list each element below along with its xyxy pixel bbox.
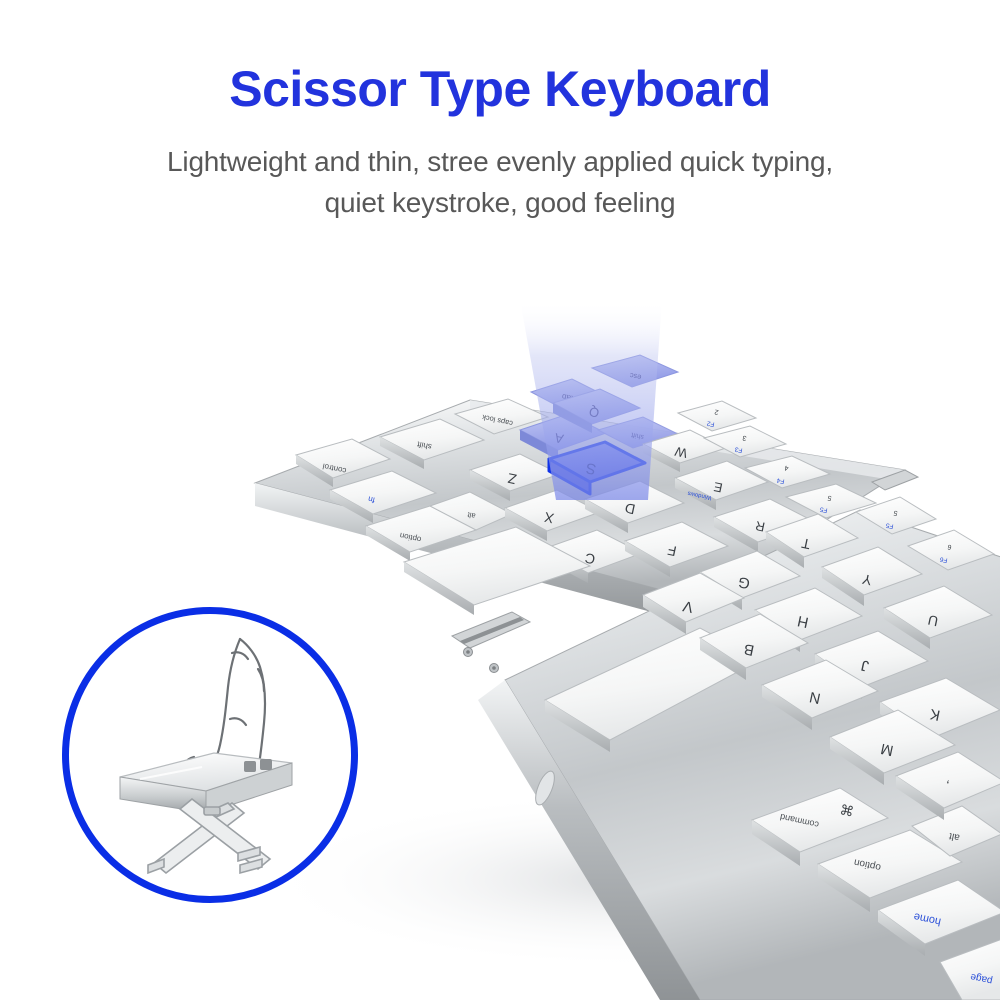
product-marketing-image: Scissor Type Keyboard Lightweight and th… bbox=[0, 0, 1000, 1000]
scissor-mechanism-illustration bbox=[62, 607, 358, 903]
scissor-mechanism-icon bbox=[148, 799, 270, 873]
key-2-F2[interactable]: 2 F2 bbox=[678, 401, 756, 431]
keycap-icon bbox=[120, 753, 292, 813]
